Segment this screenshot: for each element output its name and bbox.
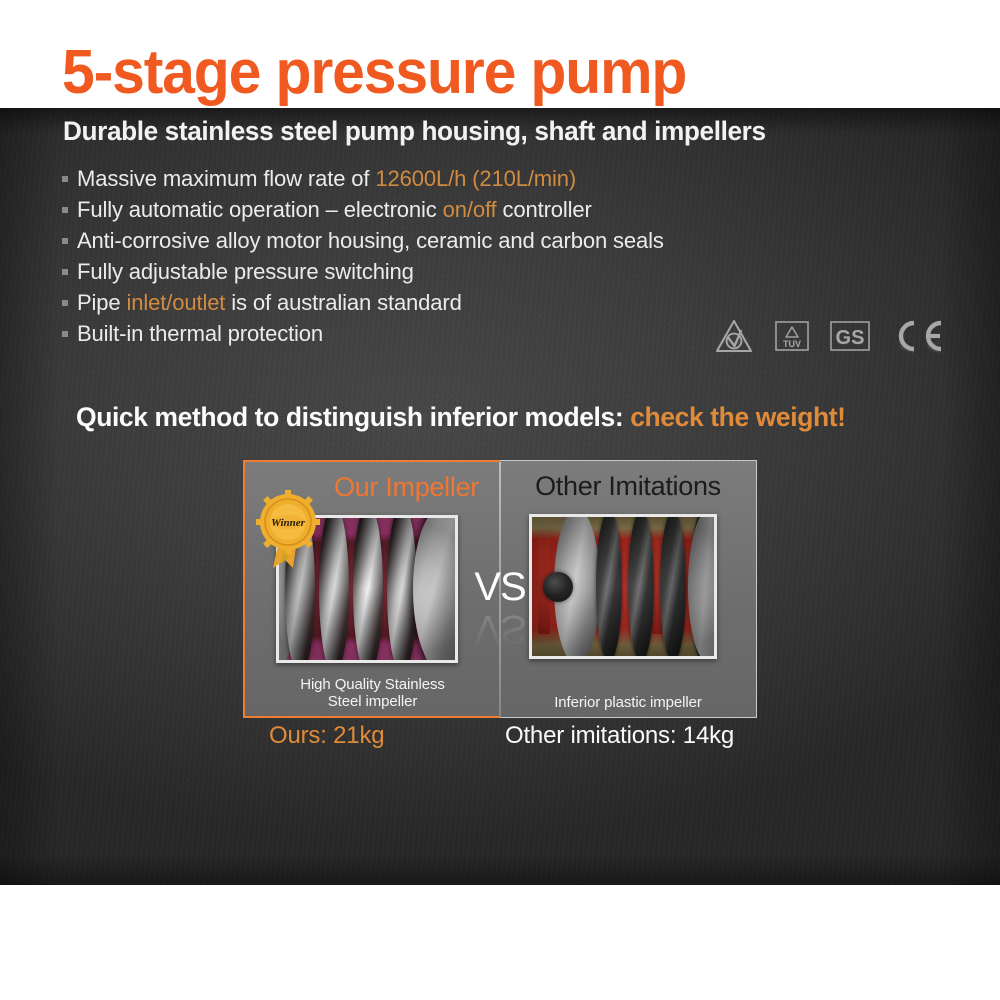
bullet-square-icon (62, 238, 68, 244)
rcm-mark-icon (714, 318, 754, 354)
comparison-panel: Our Impeller (243, 460, 757, 718)
feature-highlight: inlet/outlet (127, 290, 226, 315)
other-weight-label: Other imitations: 14kg (505, 722, 734, 750)
versus-label: VS (474, 567, 525, 607)
bullet-square-icon (62, 300, 68, 306)
feature-text: Fully adjustable pressure switching (77, 259, 414, 285)
page-title: 5-stage pressure pump (62, 42, 686, 104)
our-impeller-column: Our Impeller (243, 460, 500, 718)
bullet-square-icon (62, 331, 68, 337)
photo-shading (532, 517, 714, 656)
feature-text: Anti-corrosive alloy motor housing, cera… (77, 228, 664, 254)
plastic-impeller-illustration (532, 517, 714, 656)
bullet-square-icon (62, 207, 68, 213)
our-weight-label: Ours: 21kg (269, 722, 384, 750)
tuv-mark-icon: TUV TUV (775, 321, 809, 351)
other-impeller-photo (529, 514, 717, 659)
caption-line: High Quality Stainless (245, 676, 500, 693)
versus-label-reflection: VS (474, 609, 525, 649)
certification-marks: TUV TUV GS GS (714, 308, 944, 364)
svg-text:Winner: Winner (271, 517, 306, 529)
gs-mark-icon: GS GS (830, 321, 870, 351)
feature-highlight: on/off (443, 197, 497, 222)
feature-highlight: 12600L/h (210L/min) (375, 166, 576, 191)
bullet-square-icon (62, 176, 68, 182)
feature-text: Fully automatic operation – electronic o… (77, 197, 592, 223)
page-subtitle: Durable stainless steel pump housing, sh… (63, 116, 766, 147)
feature-list: Massive maximum flow rate of 12600L/h (2… (62, 166, 702, 352)
feature-text: Massive maximum flow rate of 12600L/h (2… (77, 166, 576, 192)
weight-comparison-row: Ours: 21kg Other imitations: 14kg (243, 722, 757, 762)
caption-line: Steel impeller (245, 693, 500, 710)
comparison-heading-accent: check the weight! (630, 402, 845, 432)
list-item: Anti-corrosive alloy motor housing, cera… (62, 228, 702, 259)
our-impeller-caption: High Quality Stainless Steel impeller (245, 676, 500, 711)
feature-text: Pipe inlet/outlet is of australian stand… (77, 290, 462, 316)
product-feature-poster: 5-stage pressure pump Durable stainless … (0, 0, 1000, 1000)
svg-text:GS: GS (836, 327, 865, 349)
comparison-heading: Quick method to distinguish inferior mod… (76, 402, 846, 433)
winner-badge-icon: Winner (255, 488, 329, 572)
versus-marker: VS VS (474, 567, 525, 649)
list-item: Fully adjustable pressure switching (62, 259, 702, 290)
caption-line: Inferior plastic impeller (500, 694, 756, 711)
list-item: Fully automatic operation – electronic o… (62, 197, 702, 228)
other-impeller-caption: Inferior plastic impeller (500, 694, 756, 711)
list-item: Built-in thermal protection (62, 321, 702, 352)
list-item: Pipe inlet/outlet is of australian stand… (62, 290, 702, 321)
list-item: Massive maximum flow rate of 12600L/h (2… (62, 166, 702, 197)
svg-text:TUV: TUV (783, 339, 801, 349)
other-imitations-title: Other Imitations (500, 471, 756, 502)
ce-mark-icon (891, 317, 947, 355)
feature-text: Built-in thermal protection (77, 321, 323, 347)
other-imitations-column: Other Imitations (500, 460, 757, 718)
bullet-square-icon (62, 269, 68, 275)
